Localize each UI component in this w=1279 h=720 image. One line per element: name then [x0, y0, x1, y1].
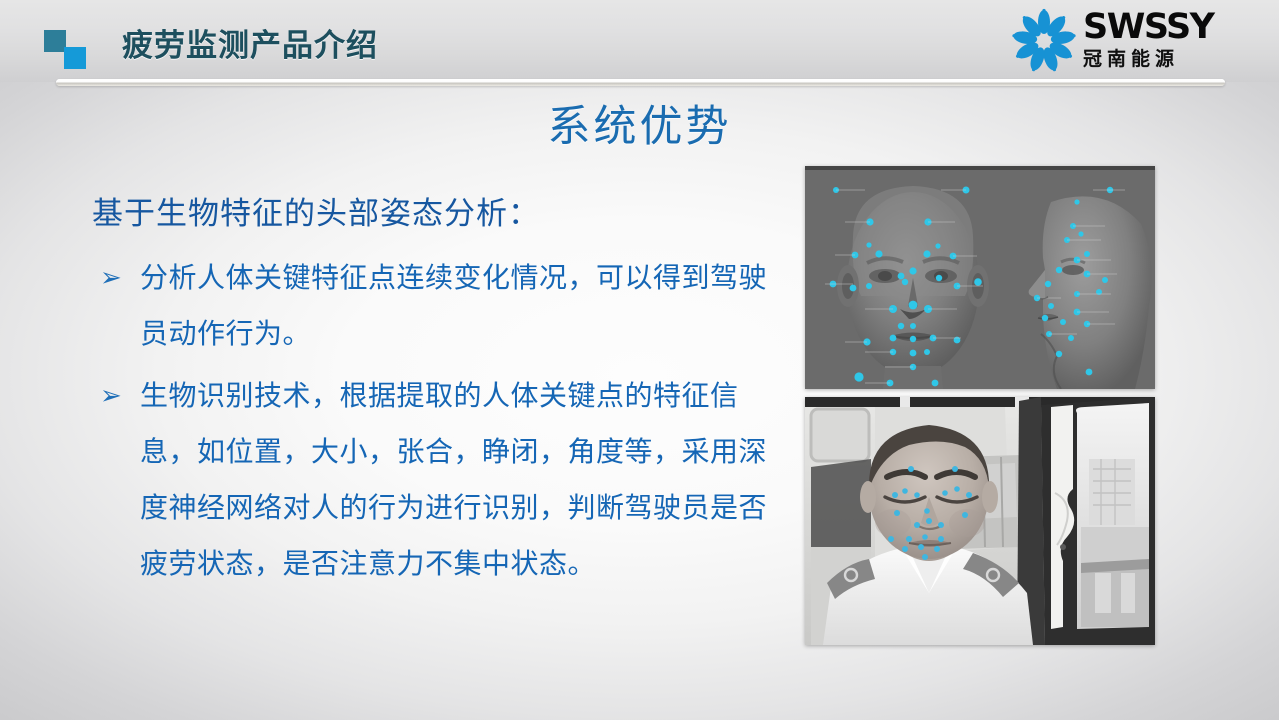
bullet-list: ➢ 分析人体关键特征点连续变化情况，可以得到驾驶员动作行为。 ➢ 生物识别技术，… — [92, 250, 782, 592]
header-title: 疲劳监测产品介绍 — [122, 20, 378, 65]
list-item: ➢ 分析人体关键特征点连续变化情况，可以得到驾驶员动作行为。 — [92, 250, 782, 362]
header-divider — [56, 79, 1225, 86]
driver-landmark-overlay — [805, 397, 1155, 645]
logo-company-name: 冠南能源 — [1083, 47, 1258, 71]
arrow-bullet-icon: ➢ — [100, 250, 122, 306]
media-column — [805, 166, 1155, 645]
logo-wordmark: SWSSY — [1083, 8, 1258, 46]
content-text-column: 基于生物特征的头部姿态分析： ➢ 分析人体关键特征点连续变化情况，可以得到驾驶员… — [92, 192, 782, 598]
driver-cab-monitoring-image — [805, 397, 1155, 645]
arrow-bullet-icon: ➢ — [100, 368, 122, 424]
slide-header: 疲劳监测产品介绍 — [0, 0, 1279, 82]
square-bright-icon — [64, 47, 86, 69]
water-droplet-flower-icon — [1011, 8, 1077, 74]
face-landmark-overlay — [805, 166, 1155, 389]
two-squares-icon — [44, 30, 100, 70]
page-title: 系统优势 — [0, 92, 1279, 154]
lead-statement: 基于生物特征的头部姿态分析： — [92, 192, 782, 236]
company-logo: SWSSY 冠南能源 — [1011, 6, 1261, 78]
logo-text-block: SWSSY 冠南能源 — [1083, 8, 1258, 71]
list-item: ➢ 生物识别技术，根据提取的人体关键点的特征信息，如位置，大小，张合，睁闭，角度… — [92, 368, 782, 592]
list-item-label: 生物识别技术，根据提取的人体关键点的特征信息，如位置，大小，张合，睁闭，角度等，… — [140, 368, 782, 592]
presentation-slide: 疲劳监测产品介绍 — [0, 0, 1279, 720]
square-dark-icon — [44, 30, 66, 52]
list-item-label: 分析人体关键特征点连续变化情况，可以得到驾驶员动作行为。 — [140, 250, 782, 362]
face-landmark-model-image — [805, 166, 1155, 389]
